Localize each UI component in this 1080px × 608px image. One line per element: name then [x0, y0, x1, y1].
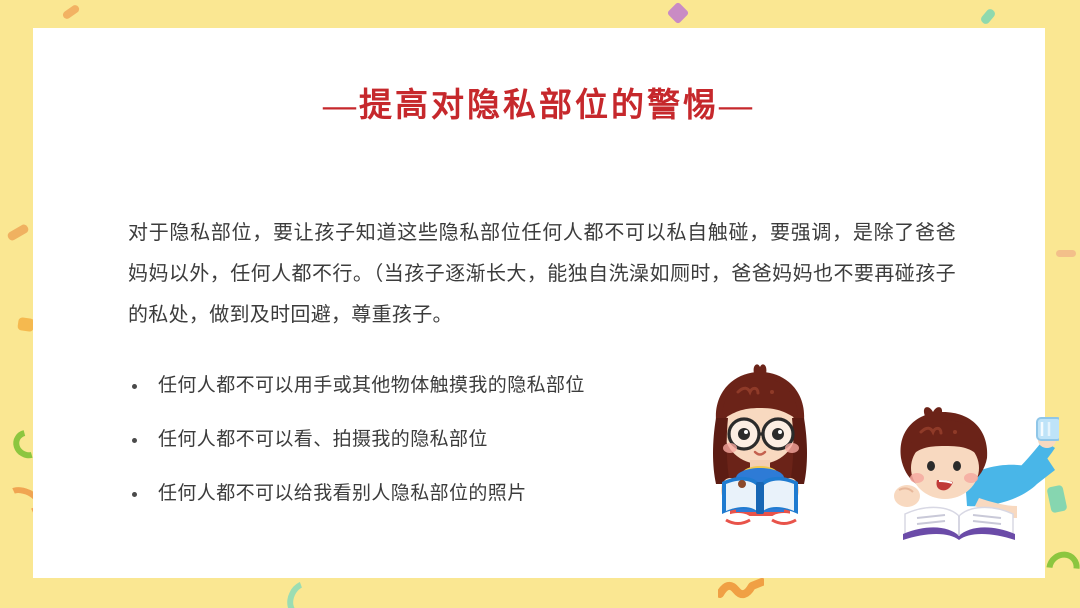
confetti-green-curve-bottom	[281, 575, 324, 608]
rule-item-label: 任何人都不可以用手或其他物体触摸我的隐私部位	[158, 375, 585, 396]
rule-item-label: 任何人都不可以看、拍摄我的隐私部位	[158, 429, 488, 450]
rule-item: 任何人都不可以用手或其他物体触摸我的隐私部位	[128, 373, 648, 399]
confetti-orange-zigzag-bottom	[718, 578, 764, 600]
confetti-green-dash-top-right	[979, 7, 996, 25]
slide-canvas: —提高对隐私部位的警惕— 对于隐私部位，要让孩子知道这些隐私部位任何人都不可以私…	[0, 0, 1080, 608]
confetti-green-arc-right-mid	[1040, 545, 1080, 591]
rule-item: 任何人都不可以给我看别人隐私部位的照片	[128, 481, 648, 507]
bullet-dot-icon	[132, 438, 137, 443]
bullet-dot-icon	[132, 384, 137, 389]
rule-item-label: 任何人都不可以给我看别人隐私部位的照片	[158, 483, 527, 504]
confetti-orange-dash-left-upper	[6, 223, 30, 242]
page-title: —提高对隐私部位的警惕—	[33, 78, 1045, 126]
rules-list: 任何人都不可以用手或其他物体触摸我的隐私部位任何人都不可以看、拍摄我的隐私部位任…	[128, 373, 648, 507]
body-paragraph: 对于隐私部位，要让孩子知道这些隐私部位任何人都不可以私自触碰，要强调，是除了爸爸…	[128, 213, 956, 336]
rule-item: 任何人都不可以看、拍摄我的隐私部位	[128, 427, 648, 453]
confetti-orange-dash-top-left	[61, 4, 80, 21]
confetti-orange-dash-right-top	[1056, 250, 1076, 257]
boy-reading-book-illustration	[887, 406, 1059, 542]
girl-reading-book-illustration	[686, 362, 834, 528]
confetti-purple-diamond-top	[667, 2, 690, 25]
bullet-dot-icon	[132, 492, 137, 497]
content-card: —提高对隐私部位的警惕— 对于隐私部位，要让孩子知道这些隐私部位任何人都不可以私…	[33, 28, 1045, 578]
